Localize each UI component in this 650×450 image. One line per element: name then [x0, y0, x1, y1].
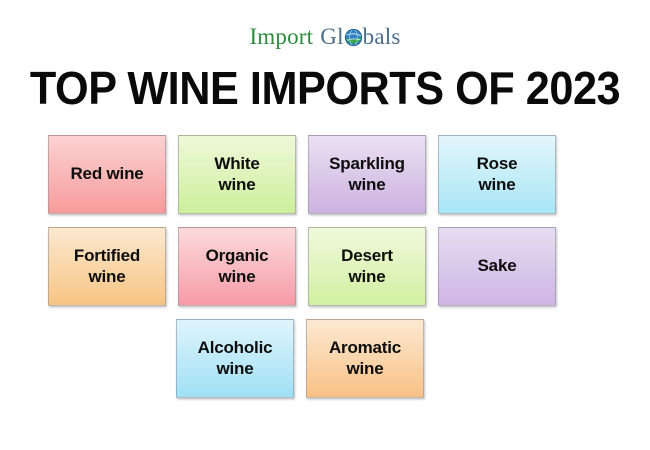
- category-label: Sparklingwine: [329, 154, 405, 194]
- category-box-desert-wine[interactable]: Desertwine: [308, 227, 426, 306]
- globe-icon: [344, 28, 363, 47]
- logo-word-globals-prefix: Gl: [320, 24, 343, 50]
- category-box-fortified-wine[interactable]: Fortifiedwine: [48, 227, 166, 306]
- category-box-aromatic-wine[interactable]: Aromaticwine: [306, 319, 424, 398]
- category-label: Red wine: [70, 164, 143, 184]
- brand-logo: Import Gl bals: [0, 20, 650, 54]
- page-title: TOP WINE IMPORTS OF 2023: [20, 64, 631, 112]
- category-box-sparkling-wine[interactable]: Sparklingwine: [308, 135, 426, 214]
- category-box-rose-wine[interactable]: Rosewine: [438, 135, 556, 214]
- category-label: Rosewine: [477, 154, 518, 194]
- category-box-alcoholic-wine[interactable]: Alcoholicwine: [176, 319, 294, 398]
- category-box-sake[interactable]: Sake: [438, 227, 556, 306]
- logo-word-import: Import: [249, 24, 313, 50]
- category-box-organic-wine[interactable]: Organicwine: [178, 227, 296, 306]
- wine-category-grid: Red wine Whitewine Sparklingwine Rosewin…: [48, 135, 602, 411]
- category-box-white-wine[interactable]: Whitewine: [178, 135, 296, 214]
- category-label: Aromaticwine: [329, 338, 401, 378]
- grid-row: Alcoholicwine Aromaticwine: [176, 319, 602, 398]
- category-label: Fortifiedwine: [74, 246, 140, 286]
- category-label: Whitewine: [214, 154, 259, 194]
- category-label: Sake: [478, 256, 517, 276]
- category-box-red-wine[interactable]: Red wine: [48, 135, 166, 214]
- category-label: Organicwine: [206, 246, 269, 286]
- logo-word-globals-suffix: bals: [363, 24, 401, 50]
- category-label: Desertwine: [341, 246, 393, 286]
- grid-row: Fortifiedwine Organicwine Desertwine Sak…: [48, 227, 602, 306]
- category-label: Alcoholicwine: [198, 338, 273, 378]
- grid-row: Red wine Whitewine Sparklingwine Rosewin…: [48, 135, 602, 214]
- logo-text: Import Gl bals: [249, 24, 400, 50]
